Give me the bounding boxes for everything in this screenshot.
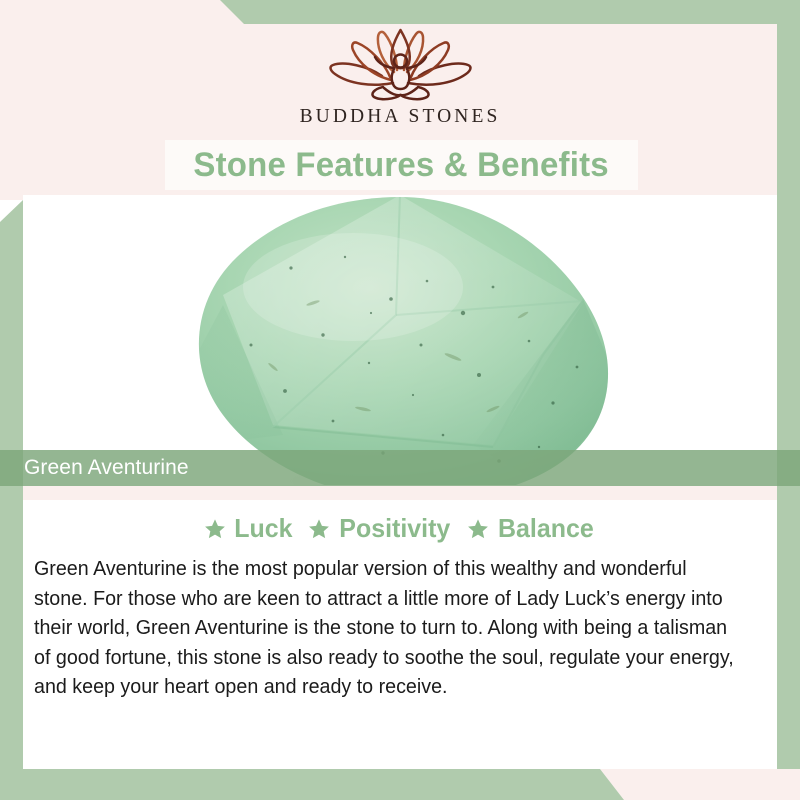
brand-name: BUDDHA STONES [300, 106, 501, 128]
star-icon [467, 518, 489, 540]
page-title: Stone Features & Benefits [194, 146, 609, 185]
benefit-item-positivity: Positivity [308, 513, 453, 544]
title-banner: Stone Features & Benefits [165, 140, 638, 190]
green-aventurine-stone-photo [23, 195, 777, 485]
hero-image-container [23, 195, 777, 485]
benefits-row: Luck Positivity Balance [23, 513, 777, 544]
benefit-label: Luck [235, 513, 293, 544]
body-content: Luck Positivity Balance Green Aventurine… [23, 500, 777, 769]
frame-green-left-bar [0, 200, 23, 800]
star-icon [308, 518, 330, 540]
benefit-label: Balance [498, 513, 594, 544]
benefit-item-balance: Balance [467, 513, 596, 544]
benefit-label: Positivity [339, 513, 450, 544]
benefit-item-luck: Luck [204, 513, 294, 544]
poster-root: BUDDHA STONES [0, 0, 800, 800]
stone-name-bar: Green Aventurine [0, 450, 800, 486]
lotus-meditation-figure-icon [318, 24, 483, 104]
body-separator-strip [23, 486, 777, 500]
stone-name-label: Green Aventurine [24, 456, 189, 480]
brand-logo: BUDDHA STONES [0, 24, 800, 128]
description-paragraph: Green Aventurine is the most popular ver… [34, 555, 744, 703]
star-icon [204, 518, 226, 540]
